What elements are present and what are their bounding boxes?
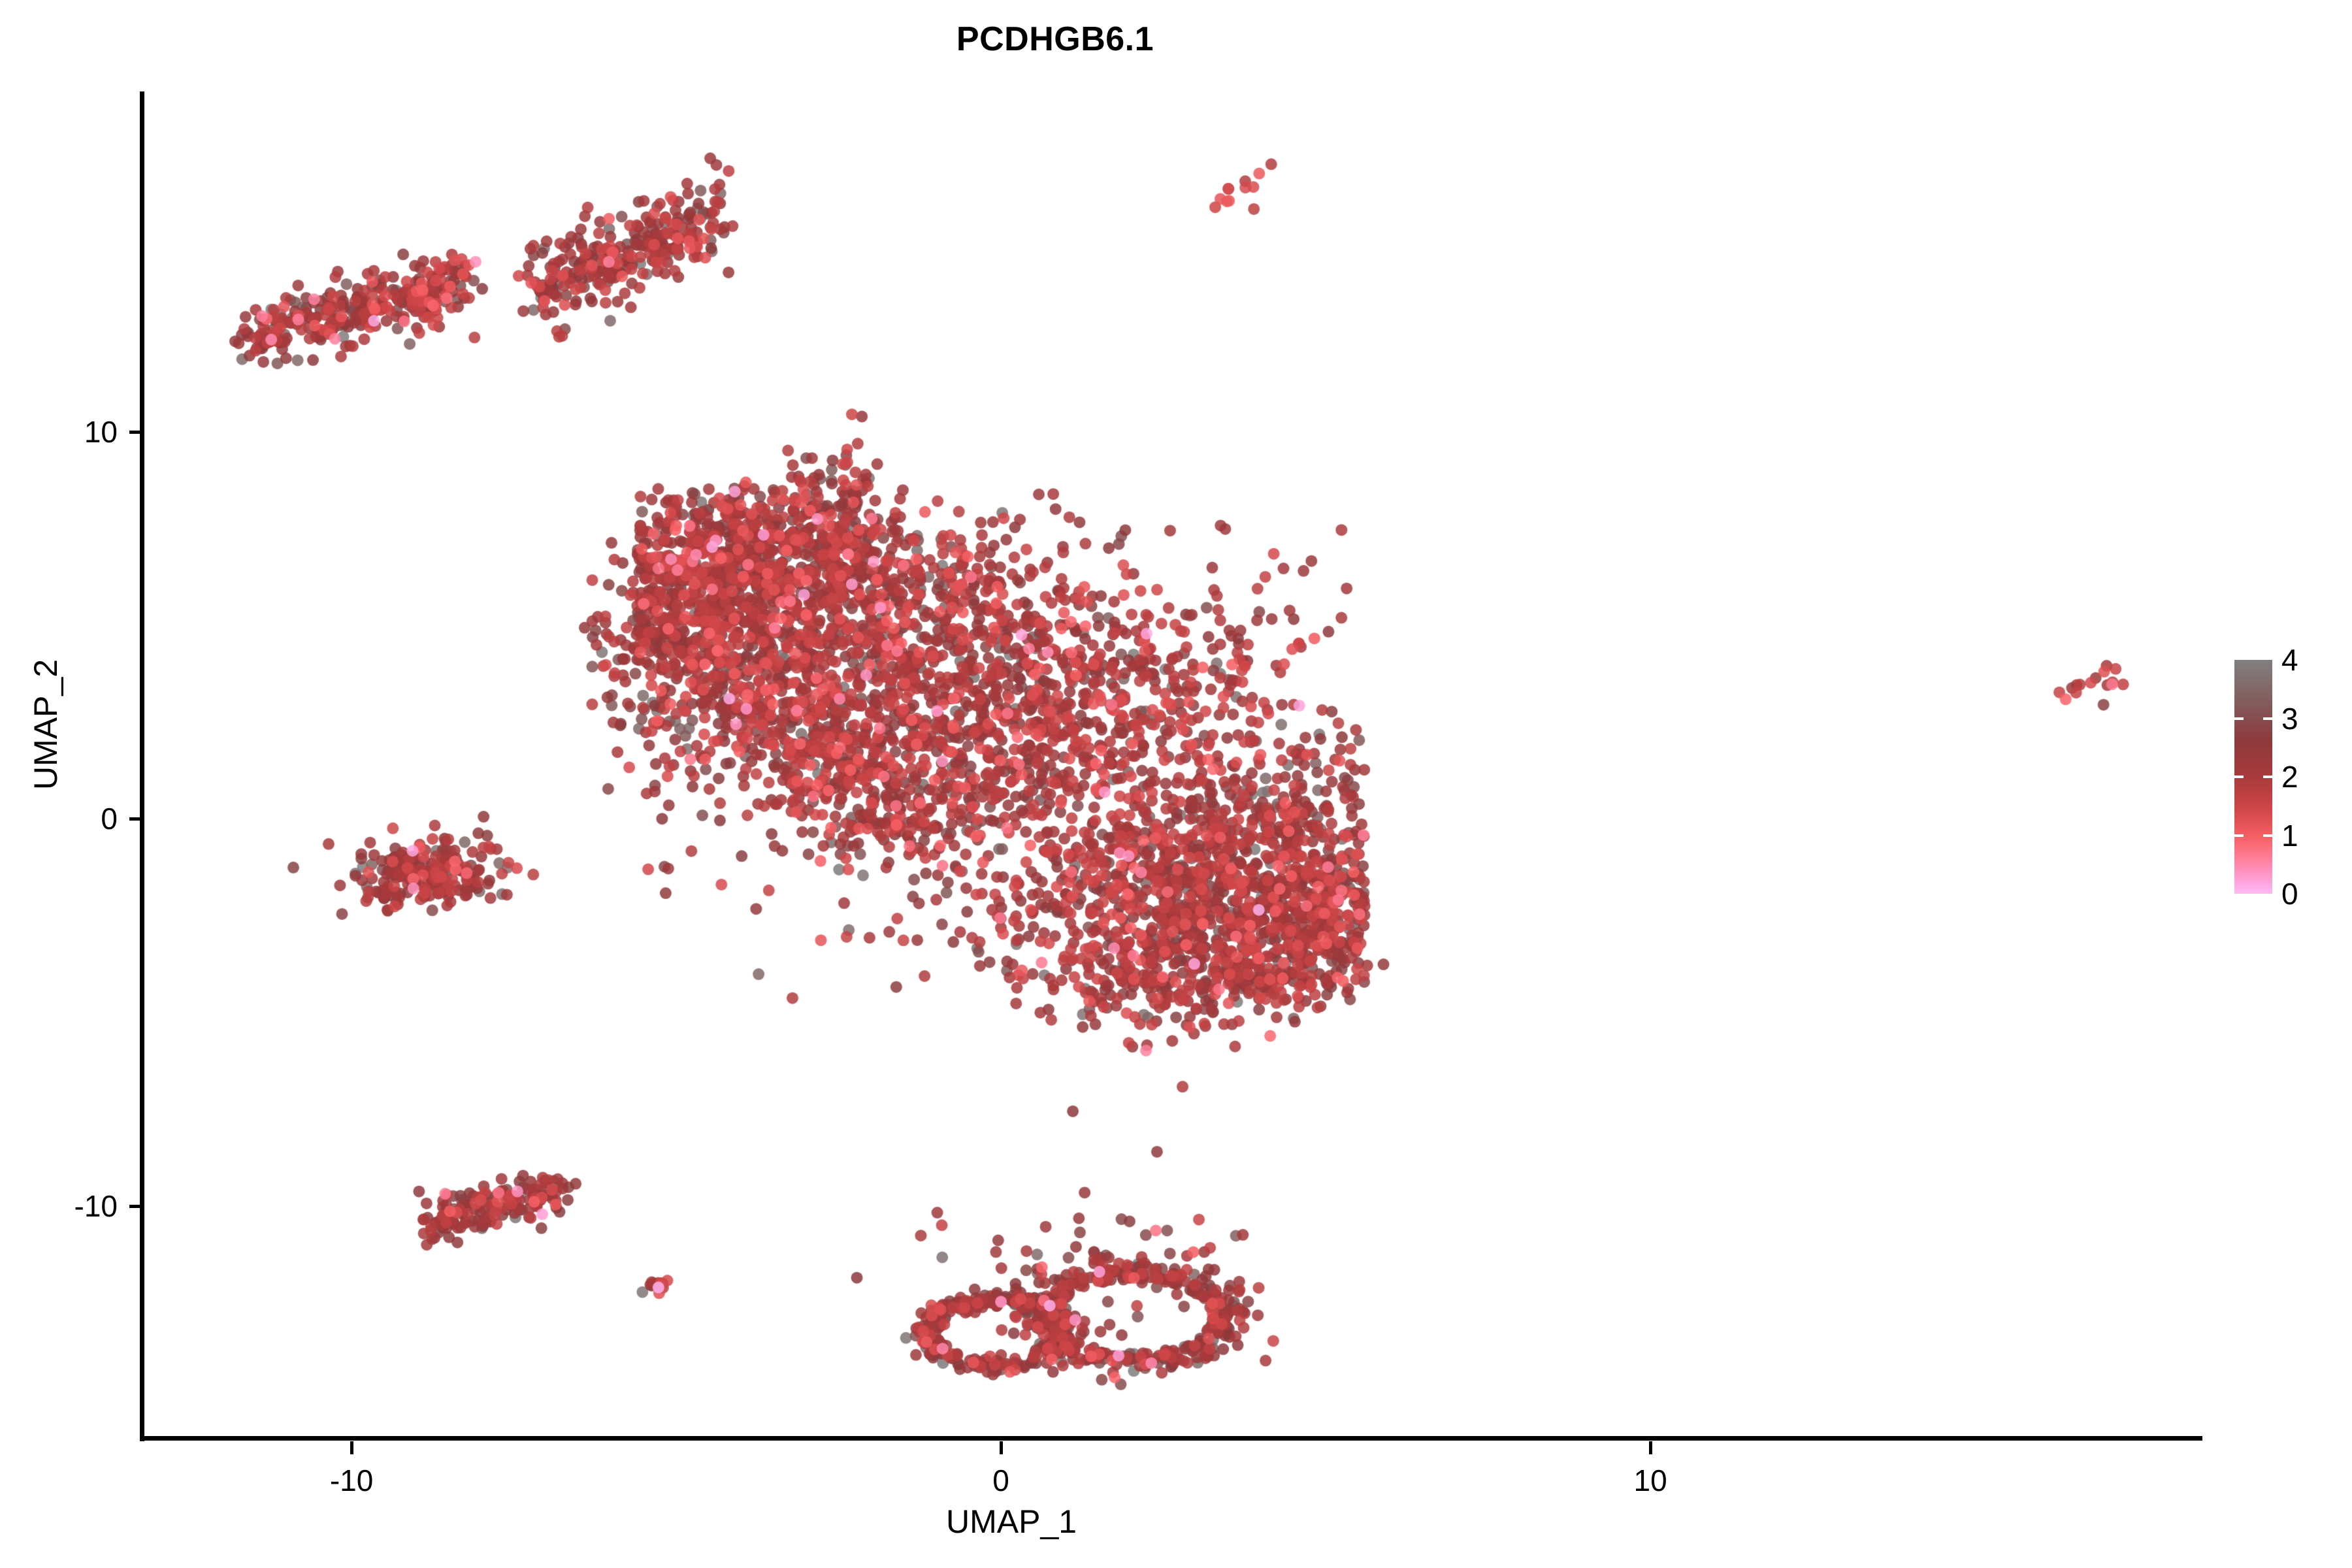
legend-tick-mark — [2234, 776, 2244, 778]
umap-feature-plot: PCDHGB6.1 100-10 -10010 UMAP_1 UMAP_2 01… — [0, 0, 2352, 1568]
page-title: PCDHGB6.1 — [0, 20, 2110, 59]
legend-tick-mark — [2263, 776, 2272, 778]
y-axis-line — [140, 91, 144, 1441]
x-axis-title: UMAP_1 — [946, 1503, 1077, 1541]
y-tick-label: 10 — [0, 414, 118, 449]
x-tick-mark — [1000, 1441, 1003, 1454]
y-tick-label: -10 — [0, 1188, 118, 1224]
x-tick-mark — [350, 1441, 353, 1454]
x-tick-label: -10 — [286, 1463, 417, 1498]
y-tick-mark — [129, 1205, 142, 1208]
color-legend: 01234 — [2234, 660, 2345, 895]
legend-label: 3 — [2281, 701, 2298, 736]
legend-tick-mark — [2234, 717, 2244, 720]
legend-label: 2 — [2281, 759, 2298, 794]
scatter-canvas — [144, 91, 2202, 1438]
legend-tick-mark — [2234, 834, 2244, 837]
x-tick-mark — [1649, 1441, 1652, 1454]
legend-tick-mark — [2263, 834, 2272, 837]
x-tick-label: 10 — [1585, 1463, 1716, 1498]
x-axis-line — [140, 1436, 2202, 1441]
legend-label: 4 — [2281, 642, 2298, 678]
plot-panel — [144, 91, 2202, 1438]
y-tick-mark — [129, 817, 142, 821]
y-tick-mark — [129, 431, 142, 434]
x-tick-label: 0 — [936, 1463, 1066, 1498]
legend-tick-mark — [2263, 717, 2272, 720]
legend-label: 0 — [2281, 876, 2298, 911]
legend-label: 1 — [2281, 818, 2298, 853]
y-axis-title: UMAP_2 — [27, 640, 65, 809]
